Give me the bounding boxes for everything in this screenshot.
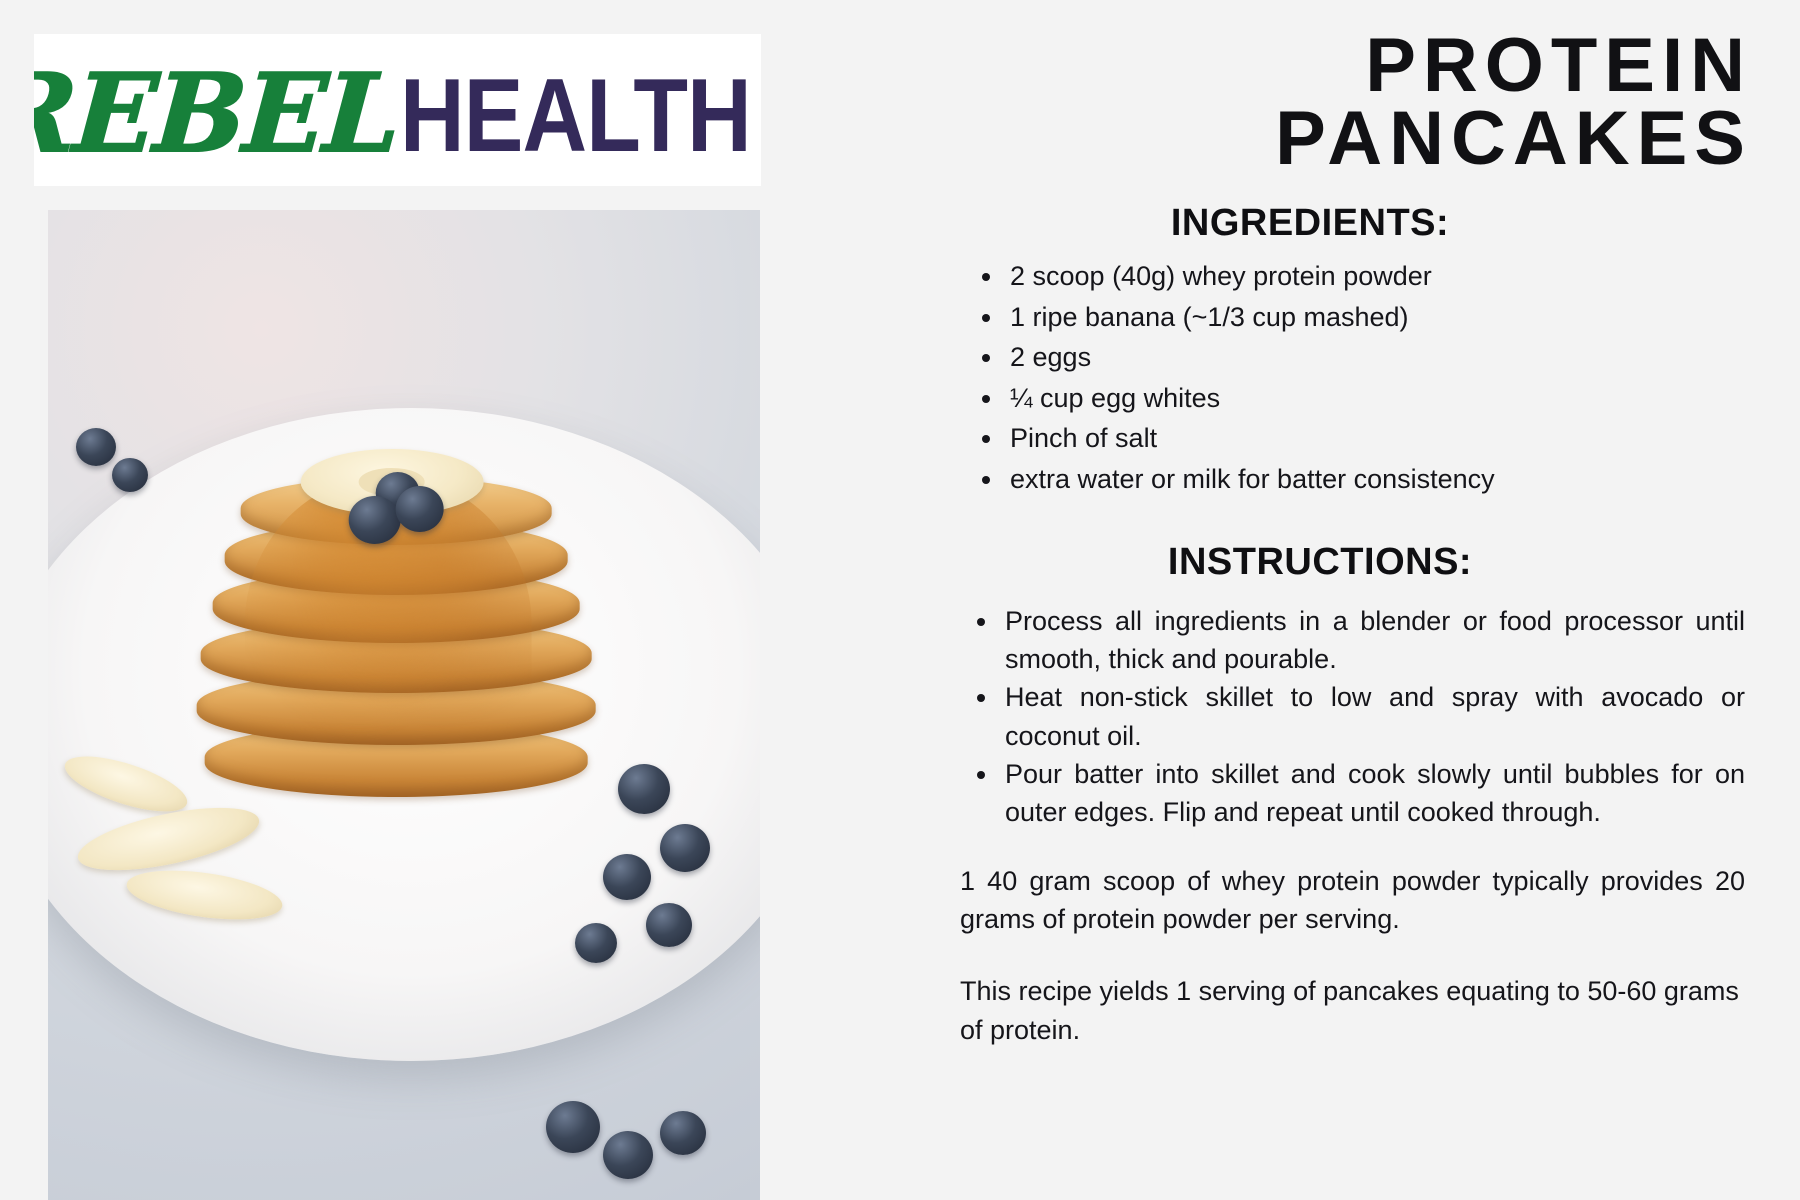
pancake-stack <box>197 467 596 942</box>
instructions-heading: INSTRUCTIONS: <box>880 541 1800 584</box>
blueberry-icon <box>546 1101 600 1153</box>
pancake-photo <box>48 210 760 1200</box>
list-item: 2 scoop (40g) whey protein powder <box>1010 257 1740 296</box>
instructions-list: Process all ingredients in a blender or … <box>880 602 1800 832</box>
page-title: PROTEIN PANCAKES <box>880 30 1752 176</box>
brand-word-rebel: REBEL <box>34 60 402 168</box>
ingredients-heading: INGREDIENTS: <box>880 202 1800 245</box>
blueberry-icon <box>603 1131 653 1179</box>
blueberry-icon <box>396 486 444 532</box>
right-column: PROTEIN PANCAKES INGREDIENTS: 2 scoop (4… <box>880 0 1800 1200</box>
brand-logo: REBELHEALTH <box>34 34 761 186</box>
brand-logo-inner: REBELHEALTH <box>34 60 761 168</box>
left-column: REBELHEALTH <box>0 0 880 1200</box>
blueberry-icon <box>348 496 400 544</box>
list-item: Pinch of salt <box>1010 419 1740 458</box>
protein-note: 1 40 gram scoop of whey protein powder t… <box>960 862 1745 939</box>
list-item: 2 eggs <box>1010 338 1740 377</box>
brand-word-health: HEALTH <box>400 64 751 168</box>
list-item: 1 ripe banana (~1/3 cup mashed) <box>1010 298 1740 337</box>
list-item: Pour batter into skillet and cook slowly… <box>1005 755 1745 832</box>
blueberry-icon <box>646 903 692 947</box>
blueberry-icon <box>603 854 651 900</box>
list-item: extra water or milk for batter consisten… <box>1010 460 1740 499</box>
list-item: Heat non-stick skillet to low and spray … <box>1005 678 1745 755</box>
blueberry-icon <box>112 458 148 492</box>
blueberry-icon <box>618 764 670 814</box>
list-item: Process all ingredients in a blender or … <box>1005 602 1745 679</box>
blueberry-icon <box>660 1111 706 1155</box>
ingredients-list: 2 scoop (40g) whey protein powder 1 ripe… <box>880 257 1800 499</box>
list-item: ¼ cup egg whites <box>1010 379 1740 418</box>
blueberry-icon <box>76 428 116 466</box>
yield-note: This recipe yields 1 serving of pancakes… <box>960 972 1745 1049</box>
blueberry-icon <box>660 824 710 872</box>
